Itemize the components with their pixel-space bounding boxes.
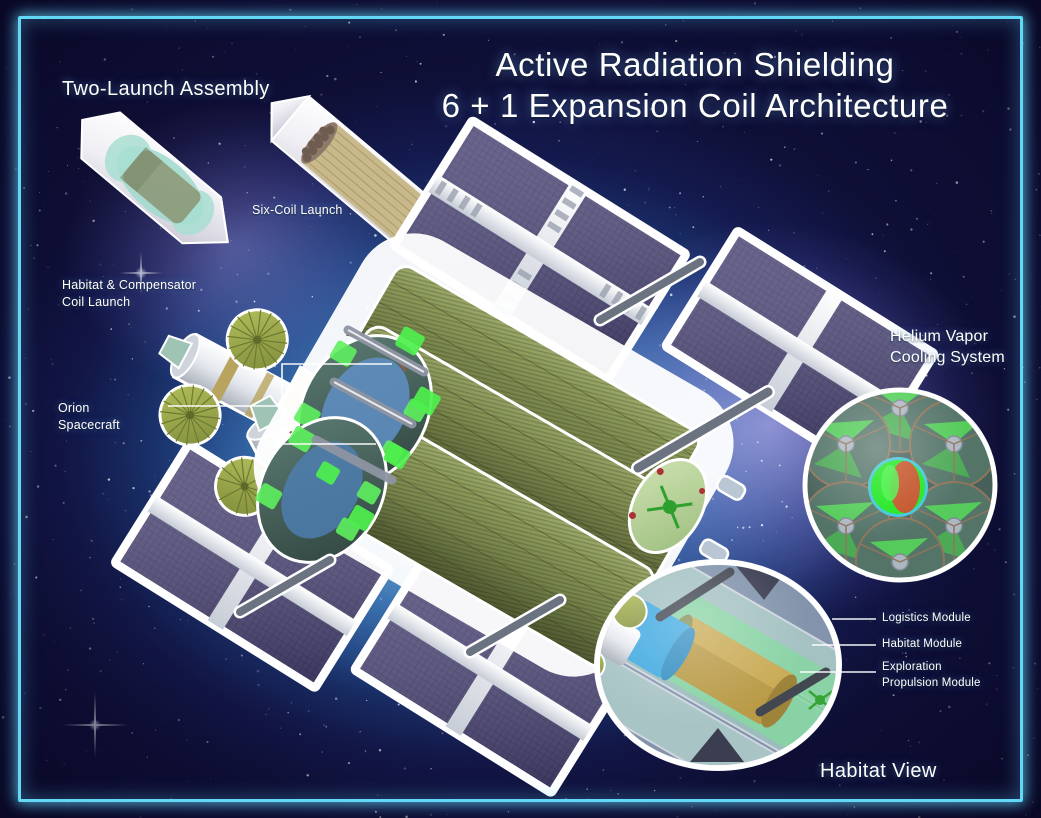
label-helium-line-2: Cooling System — [890, 348, 1005, 369]
label-two-launch-assembly: Two-Launch Assembly — [62, 78, 270, 101]
label-six-coil-launch: Six-Coil Launch — [252, 202, 343, 219]
label-habitat-module: Habitat Module — [882, 637, 962, 653]
launch-vehicle-habitat-compensator — [63, 97, 247, 265]
title-line-1: Active Radiation Shielding — [395, 44, 995, 85]
label-habitat-compensator-line-1: Habitat & Compensator — [62, 277, 196, 294]
thruster-nozzle-upper — [715, 474, 747, 502]
label-logistics-module: Logistics Module — [882, 611, 971, 627]
label-orion-line-2: Spacecraft — [58, 417, 120, 434]
title-line-2: 6 + 1 Expansion Coil Architecture — [395, 85, 995, 126]
label-orion-spacecraft: Orion Spacecraft — [58, 400, 120, 434]
label-orion-line-1: Orion — [58, 400, 120, 417]
label-exploration-line-1: Exploration — [882, 660, 981, 676]
label-habitat-compensator-line-2: Coil Launch — [62, 294, 196, 311]
label-habitat-view: Habitat View — [820, 760, 937, 783]
label-habitat-compensator-coil-launch: Habitat & Compensator Coil Launch — [62, 277, 196, 311]
label-helium-vapor-cooling-system: Helium Vapor Cooling System — [890, 327, 1005, 369]
label-helium-line-1: Helium Vapor — [890, 327, 1005, 348]
illustration-canvas: Active Radiation Shielding 6 + 1 Expansi… — [0, 0, 1041, 818]
page-title: Active Radiation Shielding 6 + 1 Expansi… — [395, 44, 995, 127]
label-exploration-propulsion-module: Exploration Propulsion Module — [882, 660, 981, 691]
label-exploration-line-2: Propulsion Module — [882, 676, 981, 692]
